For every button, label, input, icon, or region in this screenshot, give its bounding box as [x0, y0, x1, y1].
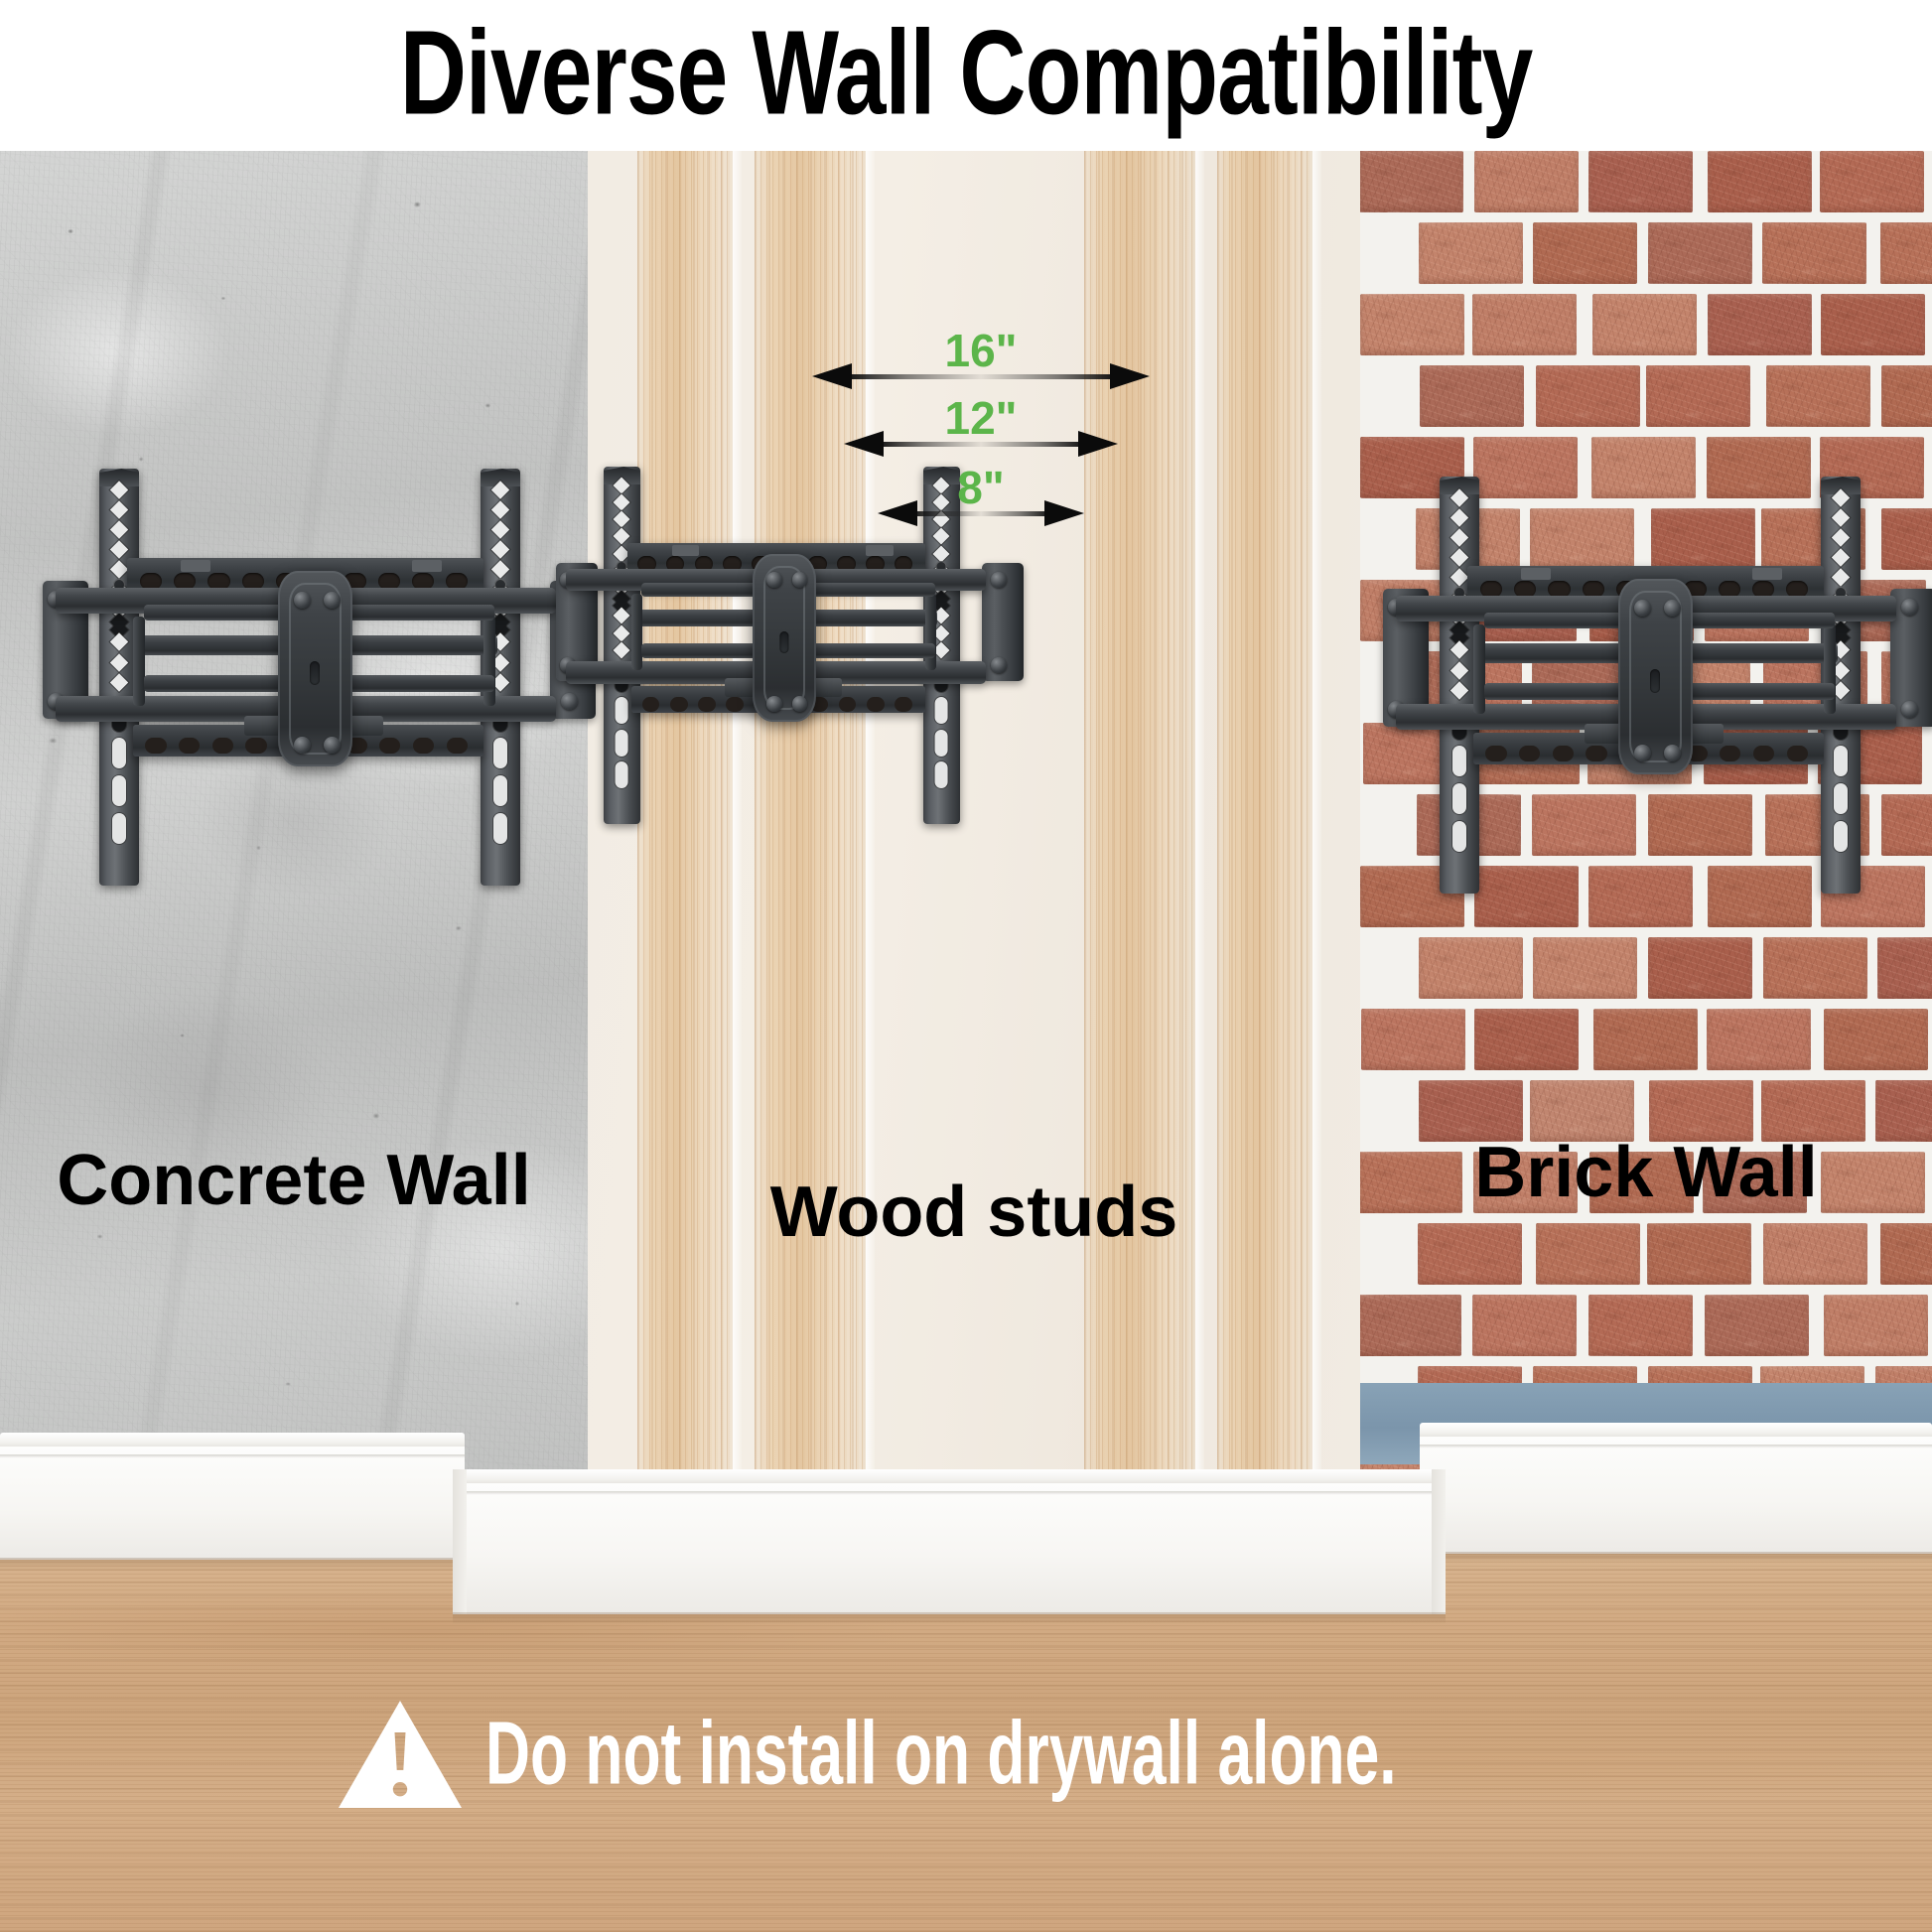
- warning-triangle-icon: [337, 1699, 464, 1810]
- rail-mounting-hole: [110, 653, 128, 671]
- wall-plate-slot: [839, 697, 857, 712]
- rail-adjustment-slot: [493, 775, 507, 807]
- brick: [1880, 222, 1932, 284]
- rail-mounting-hole: [1450, 681, 1468, 699]
- tv-arm-pivot-right: [1824, 624, 1836, 714]
- rail-mounting-hole: [110, 540, 128, 558]
- brick-grain: [1708, 294, 1812, 355]
- rail-mounting-hole: [1450, 528, 1468, 546]
- rail-adjustment-slot: [112, 775, 126, 807]
- tv-center-plate: [278, 571, 353, 766]
- warning-banner: Do not install on drywall alone.: [0, 1680, 1932, 1829]
- brick-grain: [1763, 1223, 1867, 1285]
- brick-grain: [1820, 151, 1924, 212]
- tv-arm-pivot-right: [483, 617, 495, 706]
- brick-grain: [1588, 1295, 1693, 1356]
- wall-plate-slot: [1720, 746, 1740, 761]
- rail-mounting-hole: [491, 520, 509, 538]
- brick: [1592, 294, 1697, 355]
- center-plate-bolt: [1664, 600, 1681, 617]
- tv-inner-arm-right: [804, 610, 937, 626]
- brick-course: [1360, 222, 1932, 294]
- center-plate-bolt: [792, 572, 808, 588]
- tv-inner-arm-left: [1473, 643, 1632, 663]
- rail-mounting-hole: [491, 540, 509, 558]
- wall-plate-slot: [1519, 746, 1540, 761]
- brick-grain: [1471, 294, 1576, 355]
- dimension-16in-arrow: [812, 363, 1150, 389]
- brick-grain: [1360, 151, 1463, 212]
- arrow-shaft: [846, 374, 1116, 379]
- endcap-bolt: [991, 572, 1007, 588]
- arrow-head-left: [844, 431, 884, 457]
- brick: [1361, 1009, 1465, 1070]
- product-feature-image: 16" 12" 8" Concrete Wall Wood studs Bric…: [0, 0, 1932, 1932]
- wall-plate-slot: [1753, 746, 1774, 761]
- wall-plate-slot: [895, 697, 912, 712]
- brick-grain: [1420, 365, 1524, 427]
- brick: [1766, 365, 1870, 427]
- brick-grain: [1588, 151, 1693, 212]
- brick-grain: [1762, 222, 1866, 284]
- rail-adjustment-slot: [935, 730, 948, 757]
- brick: [1474, 1009, 1579, 1070]
- warning-text: Do not install on drywall alone.: [485, 1710, 1397, 1799]
- rail-mounting-hole: [1832, 548, 1850, 566]
- brick-grain: [1880, 222, 1932, 284]
- brick-grain: [1646, 365, 1750, 427]
- rail-adjustment-slot: [935, 697, 948, 724]
- wall-plate-slot: [1485, 746, 1506, 761]
- brick: [1360, 151, 1463, 212]
- tv-center-plate: [753, 554, 815, 722]
- brick-grain: [1592, 294, 1697, 355]
- rail-mounting-hole: [614, 511, 630, 528]
- wall-plate-slot: [447, 738, 468, 754]
- arrow-head-right: [1078, 431, 1118, 457]
- wood-stud-edge: [1312, 151, 1321, 1491]
- wood-stud: [1217, 151, 1312, 1491]
- wall-plate-tab: [181, 560, 210, 572]
- rail-adjustment-slot: [1834, 783, 1848, 815]
- baseboard-face: [453, 1483, 1446, 1614]
- wall-plate-slot: [212, 738, 233, 754]
- rail-mounting-hole: [1450, 661, 1468, 679]
- rail-mounting-hole: [491, 561, 509, 579]
- brick-grain: [1648, 937, 1752, 999]
- brick: [1820, 151, 1924, 212]
- label-brick-wall: Brick Wall: [1360, 1132, 1932, 1213]
- dimension-8in: 8": [878, 465, 1084, 534]
- brick: [1824, 1295, 1928, 1356]
- brick: [1881, 365, 1932, 427]
- rail-mounting-hole: [1832, 508, 1850, 526]
- rail-mounting-hole: [491, 500, 509, 518]
- brick-course: [1360, 1009, 1932, 1080]
- center-plate-keyhole: [310, 661, 320, 685]
- rail-mounting-hole: [110, 500, 128, 518]
- tv-arm-pivot-right: [925, 594, 935, 670]
- tv-arm-link-right: [795, 583, 935, 597]
- center-plate-bolt: [324, 592, 341, 609]
- rail-mounting-hole: [110, 520, 128, 538]
- brick: [1763, 937, 1867, 999]
- tv-inner-arm-left: [631, 610, 764, 626]
- wall-plate-slot: [867, 697, 885, 712]
- rail-adjustment-slot: [616, 730, 628, 757]
- wall-plate-slot: [1553, 746, 1574, 761]
- brick: [1762, 222, 1866, 284]
- brick: [1876, 937, 1932, 999]
- wall-plate-slot: [1787, 746, 1808, 761]
- tv-arm-pivot-left: [631, 594, 641, 670]
- baseboard-shadow: [0, 1558, 465, 1570]
- brick-grain: [1881, 365, 1932, 427]
- wood-stud-edge: [1195, 151, 1204, 1491]
- tv-center-plate: [1618, 579, 1694, 774]
- title-bar: Diverse Wall Compatibility: [0, 0, 1932, 151]
- baseboard-shadow: [1420, 1552, 1932, 1564]
- baseboard-groove: [1420, 1445, 1932, 1449]
- brick: [1420, 365, 1524, 427]
- rail-adjustment-slot: [1834, 746, 1848, 777]
- arrow-shaft: [878, 442, 1084, 447]
- rail-adjustment-slot: [493, 813, 507, 845]
- brick-course: [1360, 1295, 1932, 1366]
- wall-plate-tab: [412, 560, 442, 572]
- rail-adjustment-slot: [616, 761, 628, 788]
- wall-plate-slot: [670, 697, 688, 712]
- brick-grain: [1766, 365, 1870, 427]
- center-plate-bolt: [766, 696, 782, 712]
- baseboard-return-left: [453, 1469, 467, 1614]
- brick-grain: [1708, 151, 1812, 212]
- brick: [1821, 294, 1925, 355]
- tv-arm-pivot-left: [1473, 624, 1485, 714]
- wall-plate-slot: [1586, 746, 1606, 761]
- tv-arm-link-lower-right: [328, 675, 494, 692]
- arrow-head-right: [1044, 500, 1084, 526]
- brick-grain: [1876, 937, 1932, 999]
- center-plate-bolt: [324, 737, 341, 754]
- rail-mounting-hole: [110, 633, 128, 651]
- brick-grain: [1418, 1223, 1522, 1285]
- wall-plate-slot: [698, 697, 716, 712]
- brick: [1646, 365, 1750, 427]
- tv-arm-link-right: [328, 605, 494, 621]
- baseboard-groove: [453, 1491, 1446, 1495]
- brick-grain: [1361, 1009, 1465, 1070]
- brick-grain: [1536, 1223, 1640, 1285]
- rail-mounting-hole: [614, 624, 630, 641]
- center-plate-bolt: [792, 696, 808, 712]
- label-concrete-wall: Concrete Wall: [0, 1140, 588, 1221]
- rail-mounting-hole: [614, 493, 630, 510]
- brick: [1472, 1295, 1577, 1356]
- brick-grain: [1533, 222, 1637, 284]
- brick-grain: [1419, 937, 1523, 999]
- brick: [1593, 1009, 1698, 1070]
- brick: [1824, 1009, 1928, 1070]
- wall-plate-slot: [245, 738, 266, 754]
- brick-grain: [1824, 1009, 1928, 1070]
- brick-grain: [1763, 937, 1867, 999]
- rail-mounting-hole: [110, 561, 128, 579]
- baseboard-center-protruding: [453, 1469, 1446, 1614]
- wall-plate-tab: [672, 545, 700, 556]
- wall-plate-slot: [145, 738, 166, 754]
- tv-inner-arm-right: [1679, 643, 1838, 663]
- dimension-16in: 16": [812, 328, 1150, 397]
- brick: [1588, 1295, 1693, 1356]
- tv-inner-arm-right: [339, 635, 497, 655]
- arrow-shaft: [911, 511, 1050, 516]
- brick-course: [1360, 151, 1932, 222]
- brick-grain: [1536, 365, 1640, 427]
- rail-adjustment-slot: [935, 761, 948, 788]
- brick: [1360, 294, 1464, 355]
- baseboard-groove: [0, 1454, 465, 1458]
- brick-grain: [1821, 294, 1925, 355]
- rail-adjustment-slot: [1452, 783, 1466, 815]
- brick: [1533, 937, 1637, 999]
- brick-grain: [1474, 1009, 1579, 1070]
- brick-course: [1360, 294, 1932, 365]
- brick-grain: [1705, 1295, 1809, 1356]
- brick-grain: [1824, 1295, 1928, 1356]
- brick: [1533, 222, 1637, 284]
- rail-adjustment-slot: [112, 738, 126, 769]
- brick: [1471, 294, 1576, 355]
- brick-grain: [1419, 222, 1523, 284]
- rail-mounting-hole: [614, 528, 630, 545]
- baseboard-return-right: [1432, 1469, 1446, 1614]
- brick: [1536, 365, 1640, 427]
- rail-adjustment-slot: [1452, 821, 1466, 853]
- rail-mounting-hole: [614, 641, 630, 658]
- wall-plate-slot: [642, 697, 660, 712]
- brick: [1474, 151, 1579, 212]
- rail-mounting-hole: [1832, 528, 1850, 546]
- dimension-8in-arrow: [878, 500, 1084, 526]
- brick: [1647, 1223, 1751, 1285]
- tv-arm-pivot-left: [133, 617, 145, 706]
- brick-course: [1360, 365, 1932, 437]
- brick: [1708, 151, 1812, 212]
- brick: [1705, 1295, 1809, 1356]
- brick-grain: [1880, 1223, 1932, 1285]
- dimension-12in-arrow: [844, 431, 1118, 457]
- brick-grain: [1707, 1009, 1811, 1070]
- wall-plate-tab: [1521, 568, 1551, 580]
- center-plate-bolt: [294, 737, 311, 754]
- label-wood-studs: Wood studs: [588, 1172, 1360, 1253]
- brick: [1419, 937, 1523, 999]
- baseboard-face: [1420, 1437, 1932, 1554]
- arrow-head-right: [1110, 363, 1150, 389]
- brick: [1648, 222, 1752, 284]
- rail-mounting-hole: [1832, 569, 1850, 587]
- brick: [1588, 151, 1693, 212]
- wall-plate-tab: [866, 545, 894, 556]
- rail-adjustment-slot: [493, 738, 507, 769]
- brick: [1360, 1295, 1461, 1356]
- wall-plate-slot: [413, 738, 434, 754]
- rail-adjustment-slot: [112, 813, 126, 845]
- rail-mounting-hole: [1450, 641, 1468, 659]
- center-plate-keyhole: [780, 631, 789, 653]
- center-plate-bolt: [1634, 600, 1651, 617]
- rail-adjustment-slot: [1452, 746, 1466, 777]
- brick: [1763, 1223, 1867, 1285]
- tv-inner-arm-left: [133, 635, 292, 655]
- tv-mount-bracket-brick: [1376, 477, 1932, 894]
- brick: [1536, 1223, 1640, 1285]
- dimension-12in: 12": [844, 395, 1118, 465]
- brick-grain: [1533, 937, 1637, 999]
- wall-plate-slot: [726, 697, 744, 712]
- rail-mounting-hole: [1450, 569, 1468, 587]
- brick-grain: [1474, 151, 1579, 212]
- tv-mount-bracket-concrete: [36, 469, 592, 886]
- center-plate-keyhole: [1650, 669, 1660, 693]
- center-plate-bolt: [766, 572, 782, 588]
- baseboard-left: [0, 1433, 465, 1560]
- rail-adjustment-slot: [616, 697, 628, 724]
- tv-arm-link-lower-right: [1668, 683, 1835, 700]
- brick: [1708, 294, 1812, 355]
- brick-grain: [1593, 1009, 1698, 1070]
- rail-mounting-hole: [1450, 508, 1468, 526]
- brick-grain: [1472, 1295, 1577, 1356]
- brick-grain: [1360, 1295, 1461, 1356]
- center-plate-bolt: [294, 592, 311, 609]
- baseboard-shadow: [453, 1612, 1446, 1624]
- rail-mounting-hole: [1450, 548, 1468, 566]
- brick: [1418, 1223, 1522, 1285]
- arrow-head-left: [878, 500, 917, 526]
- tv-arm-link-lower-right: [795, 643, 935, 657]
- brick-grain: [1647, 1223, 1751, 1285]
- wall-plate-slot: [379, 738, 400, 754]
- brick-course: [1360, 1223, 1932, 1295]
- brick-grain: [1360, 294, 1464, 355]
- brick: [1419, 222, 1523, 284]
- baseboard-face: [0, 1447, 465, 1560]
- endcap-bolt: [991, 657, 1007, 673]
- arrow-head-left: [812, 363, 852, 389]
- center-plate-bolt: [1664, 745, 1681, 761]
- rail-mounting-hole: [110, 673, 128, 691]
- brick-grain: [1648, 222, 1752, 284]
- tv-arm-link-right: [1668, 613, 1835, 629]
- center-plate-bolt: [1634, 745, 1651, 761]
- brick: [1880, 1223, 1932, 1285]
- baseboard-right: [1420, 1423, 1932, 1554]
- rail-adjustment-slot: [1834, 821, 1848, 853]
- brick-course: [1360, 937, 1932, 1009]
- brick: [1648, 937, 1752, 999]
- brick: [1707, 1009, 1811, 1070]
- rail-mounting-hole: [614, 608, 630, 624]
- rail-mounting-hole: [933, 545, 950, 562]
- page-title: Diverse Wall Compatibility: [400, 13, 1533, 133]
- wall-plate-tab: [1752, 568, 1782, 580]
- wall-plate-slot: [179, 738, 200, 754]
